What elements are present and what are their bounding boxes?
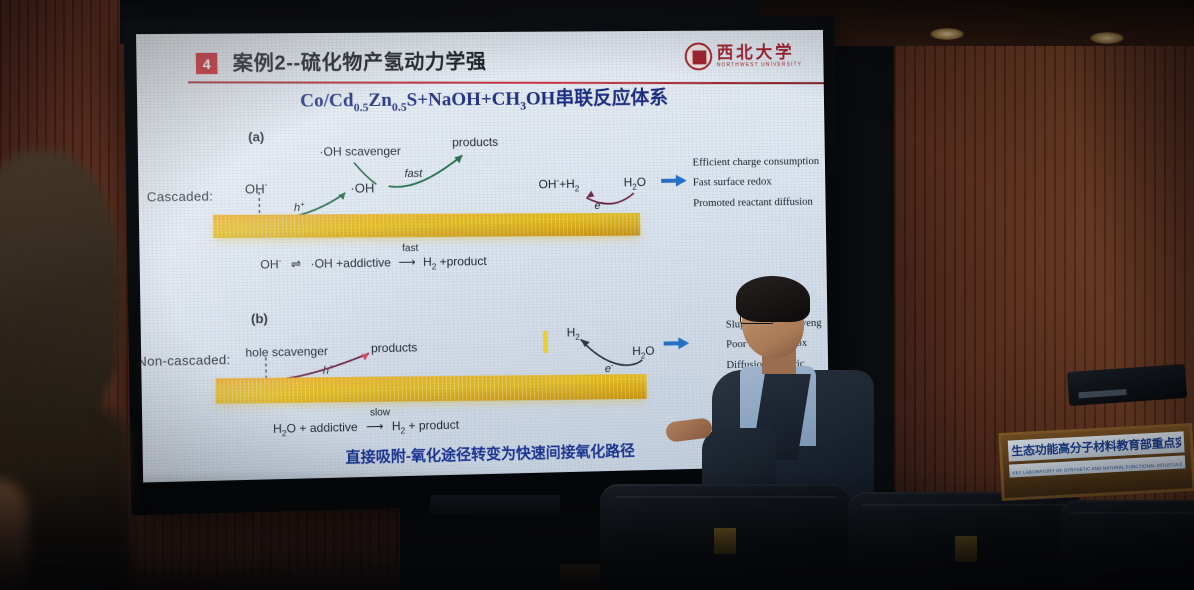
subtitle-part-4: OH串联反应体系 <box>526 87 668 109</box>
university-logo-text: 西北大学 NORTHWEST UNIVERSITY <box>716 44 802 68</box>
panel-a-bullet-0: Efficient charge consumption <box>692 151 819 173</box>
yellow-highlight-tick <box>543 331 548 353</box>
panel-b-electron-arrowhead <box>581 339 590 347</box>
wall-monitor-strip <box>1078 389 1126 398</box>
floor-shadow <box>0 470 1194 590</box>
ceiling-light <box>930 28 964 40</box>
panel-b-blue-arrow-icon <box>664 337 690 349</box>
university-name-en: NORTHWEST UNIVERSITY <box>717 63 802 69</box>
university-logo: 西北大学 NORTHWEST UNIVERSITY <box>684 42 802 71</box>
subtitle-sub-2: 0.5 <box>392 101 407 114</box>
panel-b-electron-arrow <box>581 338 643 366</box>
panel-cascaded: (a) Cascaded: ·OH scavenger products fas… <box>138 124 827 303</box>
plaque-name-cn: 生态功能高分子材料教育部重点实验室 <box>1011 434 1182 460</box>
panel-b-equation: H2O + addictive slow ⟶ H2 + product <box>273 418 459 439</box>
panel-b-catalyst-slab <box>215 374 646 404</box>
university-name-cn: 西北大学 <box>716 44 802 61</box>
foreground-person-hair <box>0 150 120 440</box>
slide-subtitle: Co/Cd0.5Zn0.5S+NaOH+CH3OH串联反应体系 <box>137 81 824 117</box>
panel-a-bullets: Efficient charge consumption Fast surfac… <box>692 151 820 213</box>
presenter-glasses-icon <box>740 314 774 324</box>
panel-a-equation: OH- ⇌ ·OH +addictive fast ⟶ H2 +product <box>260 253 487 274</box>
panel-b-arrows <box>140 303 704 435</box>
subtitle-part-2: Zn <box>368 90 392 111</box>
panel-a-bullet-1: Fast surface redox <box>693 171 820 193</box>
slide-title: 案例2--硫化物产氢动力学强 <box>232 45 486 76</box>
panel-a-bullet-2: Promoted reactant diffusion <box>693 191 820 213</box>
panel-a-electron-arrow <box>586 193 634 204</box>
panel-b-hole-arrow <box>280 353 369 379</box>
panel-a-electron-arrowhead <box>586 191 594 198</box>
university-seal-icon <box>684 42 712 70</box>
conference-room-scene: 4 案例2--硫化物产氢动力学强 西北大学 NORTHWEST UNIVERSI… <box>0 0 1194 590</box>
subtitle-sub-1: 0.5 <box>354 101 369 114</box>
subtitle-part-1: Co/Cd <box>300 90 354 112</box>
panel-a-products-arrowhead <box>454 155 462 163</box>
panel-a-blue-arrow-icon <box>661 175 687 187</box>
panel-a-scavenger-arrow <box>354 162 377 184</box>
panel-a-products-arrow <box>388 155 463 187</box>
subtitle-part-3: S+NaOH+CH <box>406 89 520 111</box>
slide-number-badge: 4 <box>196 53 218 74</box>
panel-a-catalyst-slab <box>213 213 640 238</box>
ceiling-light <box>1090 32 1124 44</box>
